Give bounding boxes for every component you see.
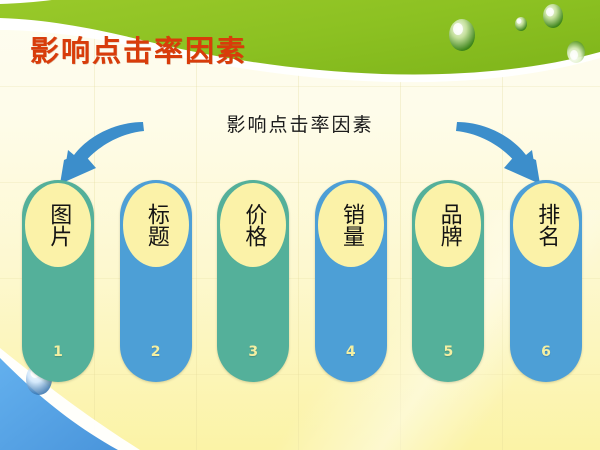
capsule-1[interactable]: 图片 1 [22,180,94,382]
capsule-2[interactable]: 标题 2 [120,180,192,382]
capsule-bubble-3: 价格 [220,183,286,267]
capsule-bubble-1: 图片 [25,183,91,267]
capsule-number-4: 4 [315,344,387,360]
capsule-label-1: 图片 [47,189,69,261]
capsule-number-6: 6 [510,344,582,360]
capsule-6[interactable]: 排名 6 [510,180,582,382]
water-droplet-group [449,4,585,63]
capsule-bubble-2: 标题 [123,183,189,267]
capsule-3[interactable]: 价格 3 [217,180,289,382]
subtitle: 影响点击率因素 [0,110,600,137]
page-title: 影响点击率因素 [30,28,247,70]
capsule-number-5: 5 [412,344,484,360]
capsule-label-3: 价格 [242,189,264,261]
capsule-label-5: 品牌 [437,189,459,261]
capsule-4[interactable]: 销量 4 [315,180,387,382]
capsule-bubble-4: 销量 [318,183,384,267]
capsule-number-2: 2 [120,344,192,360]
capsule-number-3: 3 [217,344,289,360]
capsule-bubble-6: 排名 [513,183,579,267]
capsule-label-2: 标题 [144,189,166,261]
capsule-label-6: 排名 [535,189,557,261]
capsule-bubble-5: 品牌 [415,183,481,267]
capsule-row: 图片 1 标题 2 价格 3 销量 4 品牌 5 [22,180,582,382]
capsule-5[interactable]: 品牌 5 [412,180,484,382]
capsule-number-1: 1 [22,344,94,360]
slide-canvas: 影响点击率因素 影响点击率因素 图片 1 标题 [0,0,600,450]
capsule-label-4: 销量 [340,189,362,261]
